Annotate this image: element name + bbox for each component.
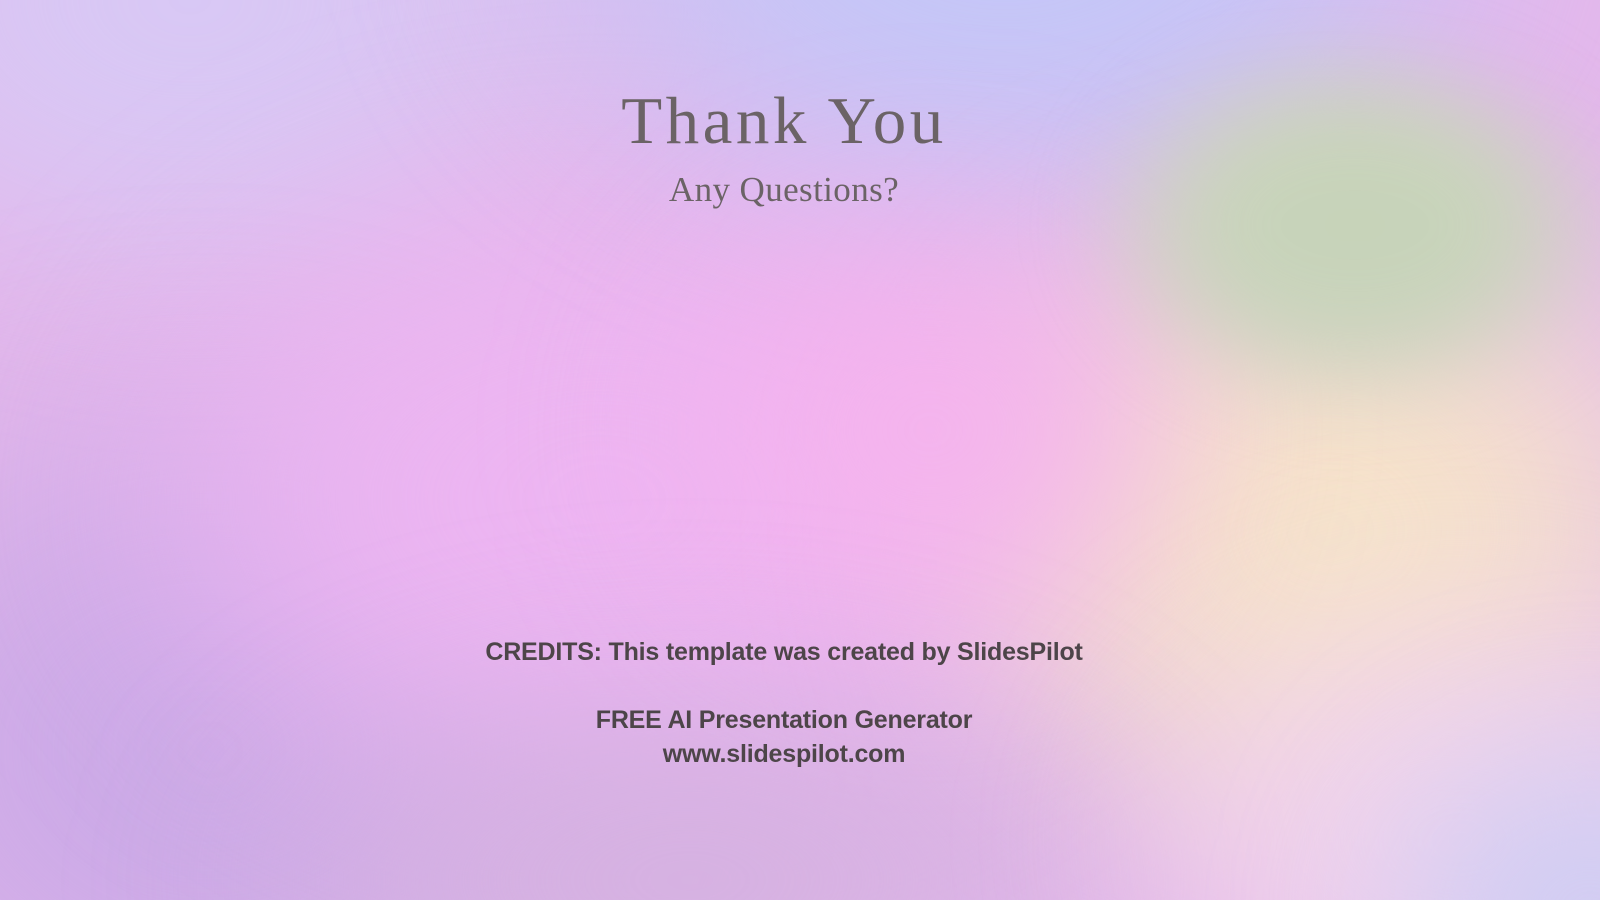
- title-block: Thank You Any Questions?: [0, 86, 1568, 210]
- slide-content: Thank You Any Questions? CREDITS: This t…: [0, 0, 1600, 900]
- credits-offer: FREE AI Presentation Generator: [0, 703, 1568, 737]
- slide-subtitle: Any Questions?: [0, 171, 1568, 210]
- credits-website[interactable]: www.slidespilot.com: [0, 737, 1568, 771]
- slide-canvas: Thank You Any Questions? CREDITS: This t…: [0, 0, 1600, 900]
- page-title: Thank You: [0, 86, 1568, 157]
- credits-block: CREDITS: This template was created by Sl…: [0, 636, 1568, 771]
- credits-attribution: CREDITS: This template was created by Sl…: [0, 636, 1568, 669]
- credits-spacer: [0, 669, 1568, 703]
